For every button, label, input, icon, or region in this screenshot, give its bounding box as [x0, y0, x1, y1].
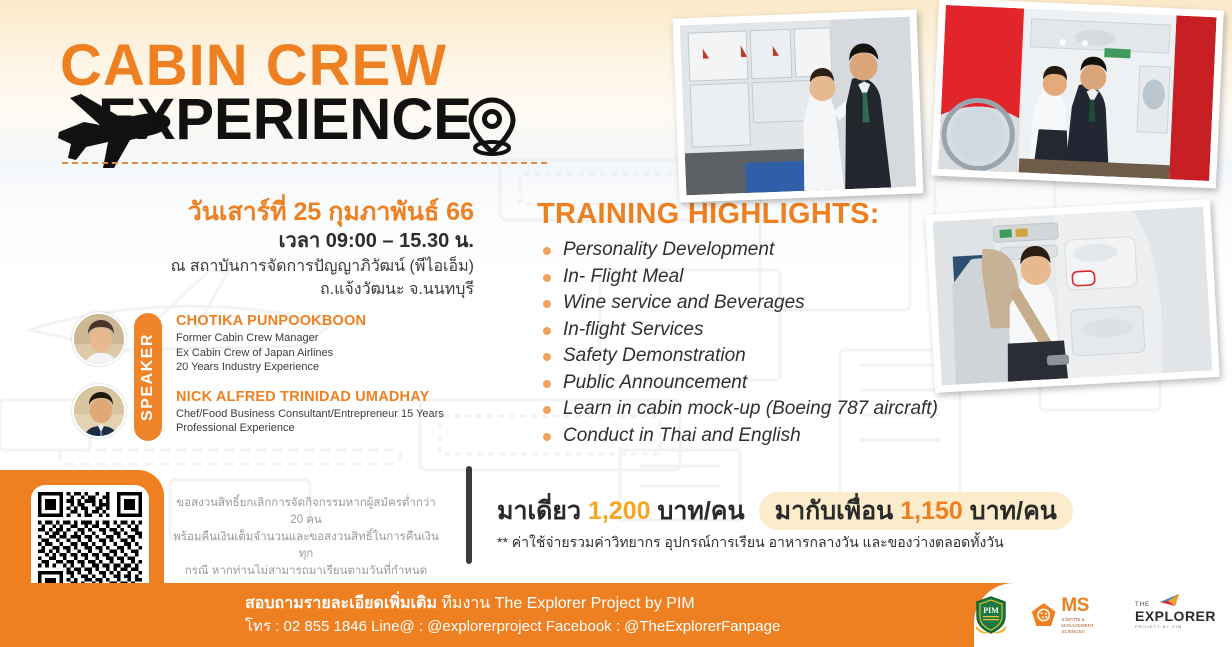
speaker-spacer [176, 375, 506, 388]
speaker-1-line-2: Ex Cabin Crew of Japan Airlines [176, 346, 506, 361]
footer-contact-rest: ทีมงาน The Explorer Project by PIM [437, 595, 695, 612]
bullet-icon [543, 353, 551, 361]
speaker-1-line-1: Former Cabin Crew Manager [176, 331, 506, 346]
highlight-item-label: Learn in cabin mock-up (Boeing 787 aircr… [563, 398, 938, 419]
bullet-icon [543, 433, 551, 441]
highlight-item-label: Wine service and Beverages [563, 292, 805, 313]
location-pin-icon [464, 96, 520, 158]
partner-logos: PIM MS น [974, 583, 1216, 647]
photo-galley-training [673, 9, 924, 202]
logo-pim: PIM [974, 596, 1008, 634]
highlight-item: Conduct in Thai and English [537, 423, 1007, 450]
speaker-avatars [72, 312, 128, 438]
highlight-item-label: Conduct in Thai and English [563, 425, 801, 446]
photo-crew-seated [925, 199, 1219, 393]
price-solo-suffix: บาท/คน [657, 497, 744, 525]
bullet-icon [543, 274, 551, 282]
price-solo: มาเดี่ยว 1,200 บาท/คน [497, 492, 745, 530]
bullet-icon [543, 300, 551, 308]
logo-ms-subtext-2: MANAGEMENT SCIENCES [1061, 623, 1113, 635]
speaker-details: CHOTIKA PUNPOOKBOON Former Cabin Crew Ma… [176, 312, 506, 436]
price-solo-prefix: มาเดี่ยว [497, 497, 581, 525]
speaker-1-line-3: 20 Years Industry Experience [176, 360, 506, 375]
terms-line-3: กรณี หากท่านไม่สามารถมาเรียนตามวันที่กำห… [172, 563, 440, 580]
speaker-1-name: CHOTIKA PUNPOOKBOON [176, 312, 506, 331]
footer-bar: สอบถามรายละเอียดเพิ่มเติม ทีมงาน The Exp… [0, 583, 1232, 647]
speaker-2-line-2: Professional Experience [176, 421, 506, 436]
event-details: วันเสาร์ที่ 25 กุมภาพันธ์ 66 เวลา 09:00 … [24, 196, 474, 301]
highlight-item-label: Safety Demonstration [563, 345, 746, 366]
pricing-section: มาเดี่ยว 1,200 บาท/คน มากับเพื่อน 1,150 … [497, 492, 1137, 554]
event-venue-line1: ณ สถาบันการจัดการปัญญาภิวัฒน์ (พีไอเอ็ม) [24, 255, 474, 278]
terms-and-conditions: ขอสงวนสิทธิ์ยกเลิกการจัดกิจกรรมหากผู้สมั… [172, 495, 440, 580]
speaker-2-block: NICK ALFRED TRINIDAD UMADHAY Chef/Food B… [176, 388, 506, 436]
event-time: เวลา 09:00 – 15.30 น. [24, 228, 474, 255]
highlight-item-label: Public Announcement [563, 372, 747, 393]
speaker-1-block: CHOTIKA PUNPOOKBOON Former Cabin Crew Ma… [176, 312, 506, 375]
logo-explorer-sub: PROJECT BY PIM [1135, 624, 1216, 629]
footer-contact: สอบถามรายละเอียดเพิ่มเติม ทีมงาน The Exp… [245, 592, 780, 638]
speaker-section: SPEAKER CHOTIKA PUNPOOKBOON Former Cabin… [72, 312, 492, 454]
terms-line-1: ขอสงวนสิทธิ์ยกเลิกการจัดกิจกรรมหากผู้สมั… [172, 495, 440, 529]
terms-line-2: พร้อมคืนเงินเต็มจำนวนและขอสงวนสิทธิ์ในกา… [172, 529, 440, 563]
logo-ms-text: MS [1061, 595, 1113, 617]
bullet-icon [543, 380, 551, 388]
highlight-item-label: Personality Development [563, 239, 774, 260]
highlight-item: Learn in cabin mock-up (Boeing 787 aircr… [537, 396, 1007, 423]
title-line-1: CABIN CREW [60, 38, 580, 94]
event-venue-line2: ถ.แจ้งวัฒนะ จ.นนทบุรี [24, 278, 474, 301]
headline-divider [62, 162, 547, 164]
logo-explorer: THE EXPLORER PROJECT BY PIM [1135, 602, 1216, 629]
logo-explorer-main: EXPLORER [1135, 608, 1216, 624]
price-friend-suffix: บาท/คน [970, 497, 1057, 525]
logo-ms: MS นวัตกรรม & MANAGEMENT SCIENCES [1030, 595, 1113, 635]
footer-contact-line-1: สอบถามรายละเอียดเพิ่มเติม ทีมงาน The Exp… [245, 592, 780, 616]
footer-contact-bold: สอบถามรายละเอียดเพิ่มเติม [245, 595, 437, 612]
bullet-icon [543, 327, 551, 335]
poster-headline: CABIN CREW EXPERIENCE [60, 38, 580, 152]
speaker-2-name: NICK ALFRED TRINIDAD UMADHAY [176, 388, 506, 407]
price-row: มาเดี่ยว 1,200 บาท/คน มากับเพื่อน 1,150 … [497, 492, 1137, 530]
price-friend-prefix: มากับเพื่อน [775, 497, 894, 525]
highlight-item-label: In-flight Services [563, 319, 703, 340]
title-line-2: EXPERIENCE [98, 90, 472, 150]
avatar-speaker-2 [72, 384, 126, 438]
price-friend: มากับเพื่อน 1,150 บาท/คน [759, 492, 1073, 530]
bullet-icon [543, 247, 551, 255]
speaker-label-pill: SPEAKER [134, 313, 162, 441]
event-date: วันเสาร์ที่ 25 กุมภาพันธ์ 66 [24, 196, 474, 228]
poster-root: CABIN CREW EXPERIENCE วันเสาร์ที่ 25 กุม… [0, 0, 1232, 647]
highlight-item-label: In- Flight Meal [563, 266, 683, 287]
svg-text:PIM: PIM [983, 606, 999, 615]
avatar-speaker-1 [72, 312, 126, 366]
price-note: ** ค่าใช้จ่ายรวมค่าวิทยากร อุปกรณ์การเรี… [497, 532, 1137, 554]
bullet-icon [543, 406, 551, 414]
speaker-label-text: SPEAKER [134, 313, 162, 441]
section-divider [466, 466, 472, 564]
price-solo-amount: 1,200 [588, 497, 651, 525]
speaker-2-line-1: Chef/Food Business Consultant/Entreprene… [176, 407, 506, 422]
photo-cabin-door-crew [931, 0, 1224, 188]
footer-contact-line-2: โทร : 02 855 1846 Line@ : @explorerproje… [245, 616, 780, 638]
price-friend-amount: 1,150 [900, 497, 963, 525]
